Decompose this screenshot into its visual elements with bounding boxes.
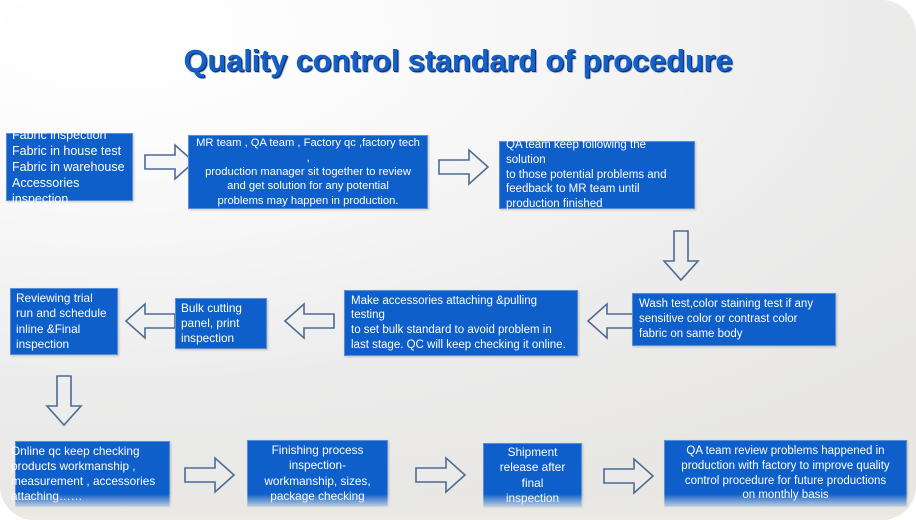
arrow-down-icon: [44, 374, 84, 427]
process-box-accessories-attaching[interactable]: Make accessories attaching &pulling test…: [344, 290, 578, 356]
process-box-shipment-release[interactable]: Shipment release after final inspection: [483, 443, 582, 508]
page-title: Quality control standard of procedure: [0, 43, 916, 79]
process-box-qa-review-monthly[interactable]: QA team review problems happened in prod…: [664, 440, 907, 507]
process-box-text: Fabric inspection Fabric in house test F…: [12, 127, 127, 207]
arrow-left-icon: [124, 301, 177, 341]
process-box-reviewing-trial-run[interactable]: Reviewing trial run and schedule inline …: [10, 288, 118, 355]
process-box-finishing-process[interactable]: Finishing process inspection- workmanshi…: [247, 440, 388, 507]
process-box-text: QA team review problems happened in prod…: [670, 444, 901, 503]
process-box-online-qc[interactable]: Online qc keep checking products workman…: [15, 441, 170, 507]
process-box-wash-test[interactable]: Wash test,color staining test if any sen…: [632, 293, 836, 346]
process-box-text: Reviewing trial run and schedule inline …: [16, 291, 112, 351]
arrow-left-icon: [283, 301, 336, 341]
process-box-qa-follow-up[interactable]: QA team keep following the solution to t…: [499, 141, 695, 209]
slide-surface: Quality control standard of procedure Fa…: [0, 0, 916, 520]
arrow-down-icon: [661, 229, 701, 282]
arrow-right-icon: [183, 455, 236, 495]
process-box-text: Bulk cutting panel, print inspection: [181, 301, 261, 346]
process-box-text: Online qc keep checking products workman…: [11, 444, 164, 504]
slide-canvas: Quality control standard of procedure Fa…: [0, 0, 916, 520]
arrow-right-icon: [414, 455, 467, 495]
process-box-fabric-inspection[interactable]: Fabric inspection Fabric in house test F…: [6, 133, 133, 201]
arrow-right-icon: [437, 147, 490, 187]
process-box-text: Finishing process inspection- workmanshi…: [253, 443, 382, 503]
process-box-text: Make accessories attaching &pulling test…: [351, 294, 571, 353]
process-box-text: QA team keep following the solution to t…: [506, 138, 688, 212]
process-box-text: MR team , QA team , Factory qc ,factory …: [195, 136, 421, 208]
arrow-right-icon: [602, 456, 655, 496]
process-box-bulk-cutting[interactable]: Bulk cutting panel, print inspection: [175, 298, 267, 349]
process-box-team-review[interactable]: MR team , QA team , Factory qc ,factory …: [188, 135, 428, 209]
process-box-text: Shipment release after final inspection: [489, 445, 576, 505]
process-box-text: Wash test,color staining test if any sen…: [639, 297, 829, 341]
